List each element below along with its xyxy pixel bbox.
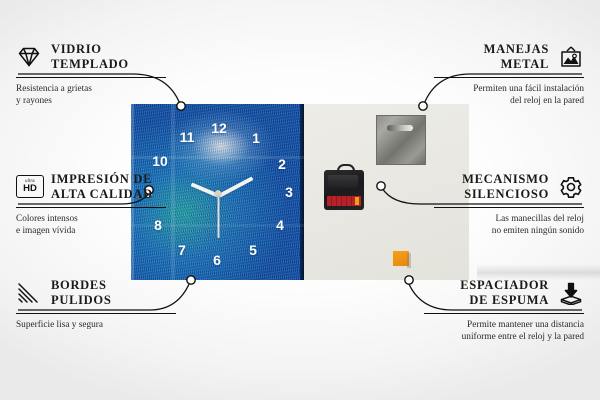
feature-title-line1: IMPRESIÓN DE: [51, 172, 152, 186]
clock-center-pin: [215, 190, 221, 196]
feature-desc-line2: no emiten ningún sonido: [492, 226, 584, 236]
feature-title-line1: BORDES: [51, 278, 107, 292]
feature-title-line2: PULIDOS: [51, 293, 111, 307]
feature-title-line2: DE ESPUMA: [469, 293, 549, 307]
hd-badge-main: HD: [23, 184, 37, 194]
feature-impresion-alta-calidad: ultra HD IMPRESIÓN DE ALTA CALIDAD Color…: [16, 172, 166, 237]
feature-title-line1: VIDRIO: [51, 42, 102, 56]
feature-title: IMPRESIÓN DE ALTA CALIDAD: [51, 172, 153, 202]
feature-divider: [16, 313, 176, 314]
feature-title-line2: METAL: [501, 57, 549, 71]
clock-numeral-6: 6: [213, 253, 221, 267]
infographic-canvas: 12 1 2 3 4 5 6 7 8 9 10 11: [0, 0, 600, 400]
feature-desc-line1: Colores intensos: [16, 214, 78, 224]
clock-numeral-7: 7: [178, 243, 186, 257]
hanger-slot: [387, 125, 413, 131]
feature-title-line2: TEMPLADO: [51, 57, 129, 71]
feature-description: Permite mantener una distancia uniforme …: [424, 319, 584, 344]
clock-numeral-2: 2: [278, 157, 286, 171]
feature-title: MECANISMO SILENCIOSO: [462, 172, 549, 202]
feature-desc-line1: Permiten una fácil instalación: [473, 84, 584, 94]
movement-detail: [328, 175, 358, 188]
feature-desc-line2: uniforme entre el reloj y la pared: [462, 332, 584, 342]
feature-divider: [424, 313, 584, 314]
feature-title: MANEJAS METAL: [484, 42, 549, 72]
feature-title: ESPACIADOR DE ESPUMA: [460, 278, 549, 308]
feature-title: VIDRIO TEMPLADO: [51, 42, 129, 72]
feature-desc-line1: Permite mantener una distancia: [467, 320, 584, 330]
clock-hour-hand: [191, 182, 220, 197]
feature-description: Superficie lisa y segura: [16, 319, 176, 331]
clock-movement: [324, 170, 364, 210]
feature-desc-line2: del reloj en la pared: [510, 96, 584, 106]
feature-vidrio-templado: VIDRIO TEMPLADO Resistencia a grietas y …: [16, 42, 166, 107]
feature-title-line1: MANEJAS: [484, 42, 549, 56]
feature-title-line2: ALTA CALIDAD: [51, 187, 153, 201]
clock-numeral-11: 11: [180, 130, 195, 144]
feature-desc-line1: Las manecillas del reloj: [495, 214, 584, 224]
picture-frame-hanging-icon: [558, 45, 584, 69]
feature-manejas-metal: MANEJAS METAL Permiten una fácil instala…: [434, 42, 584, 107]
clock-second-hand: [218, 196, 220, 238]
arrow-down-layers-icon: [558, 281, 584, 305]
feature-title: BORDES PULIDOS: [51, 278, 111, 308]
feature-title-line1: MECANISMO: [462, 172, 549, 186]
clock-numeral-5: 5: [249, 243, 257, 257]
feature-description: Colores intensos e imagen vívida: [16, 213, 166, 238]
product-image: 12 1 2 3 4 5 6 7 8 9 10 11: [131, 104, 469, 280]
feature-title-line1: ESPACIADOR: [460, 278, 549, 292]
feature-espaciador-espuma: ESPACIADOR DE ESPUMA Permite mantener un…: [424, 278, 584, 343]
clock-numeral-1: 1: [252, 131, 260, 145]
feature-desc-line2: y rayones: [16, 96, 52, 106]
feature-mecanismo-silencioso: MECANISMO SILENCIOSO Las manecillas del …: [434, 172, 584, 237]
feature-divider: [16, 207, 166, 208]
feature-bordes-pulidos: BORDES PULIDOS Superficie lisa y segura: [16, 278, 176, 331]
feature-title-line2: SILENCIOSO: [464, 187, 549, 201]
feature-divider: [16, 77, 166, 78]
foam-spacer: [393, 251, 409, 266]
feature-desc-line1: Resistencia a grietas: [16, 84, 92, 94]
diamond-icon: [16, 45, 42, 69]
feature-description: Las manecillas del reloj no emiten ningú…: [434, 213, 584, 238]
clock-numeral-12: 12: [211, 121, 227, 135]
feature-description: Permiten una fácil instalación del reloj…: [434, 83, 584, 108]
clock-numeral-10: 10: [152, 154, 168, 168]
feature-divider: [434, 77, 584, 78]
beveled-edge-icon: [16, 281, 42, 305]
feature-desc-line2: e imagen vívida: [16, 226, 75, 236]
feature-desc-line1: Superficie lisa y segura: [16, 320, 103, 330]
clock-minute-hand: [218, 176, 253, 197]
movement-battery: [327, 196, 361, 206]
metal-hanger-plate: [376, 115, 426, 165]
clock-numeral-4: 4: [276, 218, 284, 232]
feature-divider: [434, 207, 584, 208]
feature-description: Resistencia a grietas y rayones: [16, 83, 166, 108]
movement-hanger-loop: [337, 164, 355, 175]
clock-numeral-3: 3: [285, 185, 293, 199]
gear-icon: [558, 175, 584, 199]
ultra-hd-badge-icon: ultra HD: [16, 175, 42, 199]
